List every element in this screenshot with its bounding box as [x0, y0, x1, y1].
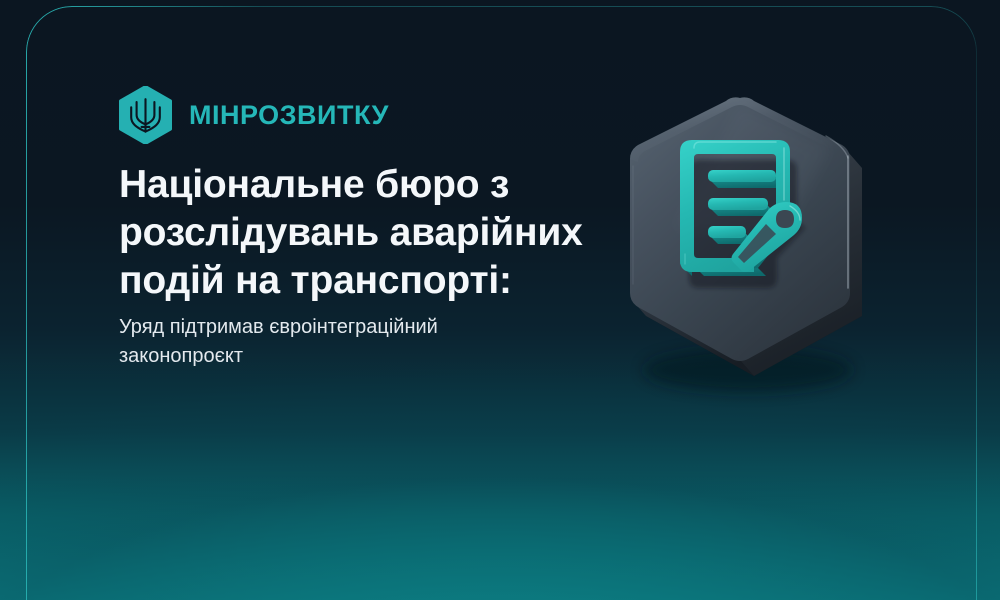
poster-canvas: МІНРОЗВИТКУ Національне бюро з розслідув…	[0, 0, 1000, 600]
document-with-pencil-hexagon-badge-icon	[580, 78, 900, 378]
brand-lockup: МІНРОЗВИТКУ	[119, 86, 389, 144]
ukraine-trident-hexagon-icon	[119, 86, 172, 144]
page-subtitle: Уряд підтримав євроінтеграційний законоп…	[119, 313, 539, 371]
brand-name-label: МІНРОЗВИТКУ	[189, 102, 389, 129]
page-title: Національне бюро з розслідувань аварійни…	[119, 161, 589, 305]
